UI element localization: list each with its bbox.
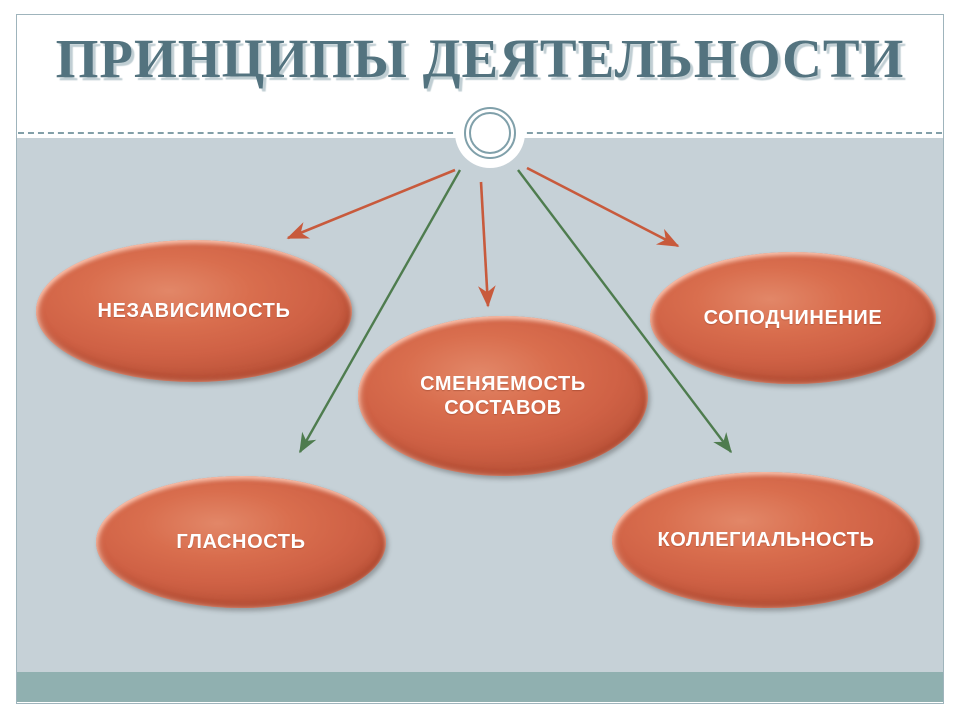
node-label-line-1: СМЕНЯЕМОСТЬ: [420, 373, 586, 395]
node-label: ГЛАСНОСТЬ: [176, 530, 305, 554]
page-title: ПРИНЦИПЫ ДЕЯТЕЛЬНОСТИ: [17, 30, 943, 88]
node-label: СМЕНЯЕМОСТЬ СОСТАВОВ: [420, 372, 586, 421]
node-label: КОЛЛЕГИАЛЬНОСТЬ: [657, 528, 874, 552]
node-kollegialnost[interactable]: КОЛЛЕГИАЛЬНОСТЬ: [612, 472, 920, 608]
node-glasnost[interactable]: ГЛАСНОСТЬ: [96, 476, 386, 608]
node-nezavisimost[interactable]: НЕЗАВИСИМОСТЬ: [36, 240, 352, 382]
slide-canvas: ПРИНЦИПЫ ДЕЯТЕЛЬНОСТИ НЕЗАВИСИМОСТЬ СМЕН…: [0, 0, 960, 720]
node-sopodchinenie[interactable]: СОПОДЧИНЕНИЕ: [650, 252, 936, 384]
node-smenyaemost[interactable]: СМЕНЯЕМОСТЬ СОСТАВОВ: [358, 316, 648, 476]
hub-inner-ring-icon: [469, 112, 511, 154]
node-label: СОПОДЧИНЕНИЕ: [704, 306, 883, 330]
node-label-line-2: СОСТАВОВ: [444, 397, 562, 419]
slide-bottom-band: [17, 672, 943, 702]
node-label: НЕЗАВИСИМОСТЬ: [98, 299, 291, 323]
